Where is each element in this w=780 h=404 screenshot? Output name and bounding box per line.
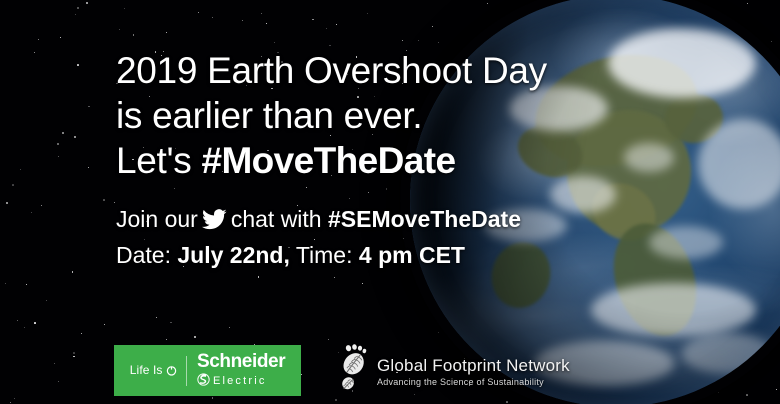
move-the-date-hashtag: #MoveTheDate: [201, 140, 455, 181]
star: [38, 39, 39, 40]
star: [261, 13, 262, 14]
star: [77, 64, 79, 66]
star: [60, 37, 61, 38]
star: [81, 333, 82, 334]
star: [103, 199, 105, 201]
star: [119, 29, 120, 30]
star: [54, 363, 55, 364]
star: [771, 41, 772, 42]
star: [88, 167, 89, 168]
star: [114, 202, 115, 203]
cloud: [682, 333, 773, 374]
date-time-line: Date: July 22nd, Time: 4 pm CET: [116, 239, 521, 272]
event-details: Join ourchat with #SEMoveTheDate Date: J…: [116, 203, 521, 272]
time-label: Time:: [296, 242, 353, 268]
date-value: July 22nd,: [177, 242, 289, 268]
leaf-footprint-icon: [336, 344, 370, 399]
star: [72, 271, 74, 273]
se-move-the-date-hashtag: #SEMoveTheDate: [328, 206, 521, 232]
star: [229, 327, 230, 328]
schneider-electric-logo: Life Is Schneider Electric: [114, 345, 301, 396]
star: [57, 143, 59, 145]
chat-invite-line: Join ourchat with #SEMoveTheDate: [116, 203, 521, 239]
promo-banner: 2019 Earth Overshoot Day is earlier than…: [0, 0, 780, 404]
life-is-on-tagline: Life Is: [130, 363, 186, 379]
headline-line-3-prefix: Let's: [116, 140, 201, 181]
star: [74, 136, 76, 138]
star: [418, 40, 420, 42]
star: [747, 3, 748, 4]
gfn-text-block: Global Footprint Network Advancing the S…: [377, 357, 570, 387]
star: [242, 20, 243, 21]
star: [86, 2, 88, 4]
star: [432, 26, 434, 28]
star: [34, 322, 36, 324]
star: [14, 398, 15, 399]
join-prefix-text: Join our: [116, 206, 198, 232]
power-on-icon: [166, 365, 177, 379]
life-is-on-text: Life Is: [130, 363, 166, 377]
star: [88, 106, 90, 108]
star: [34, 52, 35, 53]
star: [487, 3, 488, 4]
star: [301, 374, 302, 375]
star: [506, 401, 508, 403]
landmass: [663, 91, 725, 145]
gfn-tagline: Advancing the Science of Sustainability: [377, 378, 570, 387]
global-footprint-network-logo: Global Footprint Network Advancing the S…: [336, 344, 570, 399]
star: [349, 198, 350, 199]
cloud: [624, 143, 673, 172]
star: [75, 14, 76, 15]
star: [334, 277, 335, 278]
star: [174, 188, 175, 189]
star: [367, 13, 368, 14]
star: [306, 187, 307, 188]
cloud: [591, 283, 756, 337]
landmass: [582, 172, 666, 251]
star: [386, 188, 388, 190]
star: [26, 284, 27, 285]
cloud: [608, 28, 756, 98]
star: [336, 24, 337, 25]
gfn-name: Global Footprint Network: [377, 357, 570, 374]
chat-with-text: chat with: [231, 206, 322, 232]
star: [17, 320, 18, 321]
star: [335, 399, 337, 401]
cloud: [649, 226, 723, 259]
landmass: [523, 38, 709, 182]
star: [312, 19, 314, 21]
star: [156, 317, 157, 318]
star: [329, 45, 331, 47]
landmass: [557, 101, 700, 244]
star: [166, 32, 167, 33]
star: [58, 156, 59, 157]
star: [5, 283, 6, 284]
headline-line-1: 2019 Earth Overshoot Day: [116, 48, 547, 93]
star: [274, 42, 275, 43]
star: [24, 327, 25, 328]
star: [73, 356, 75, 358]
headline-line-2: is earlier than ever.: [116, 93, 547, 138]
star: [10, 402, 11, 403]
star: [266, 23, 267, 24]
star: [402, 40, 403, 41]
star: [746, 394, 748, 396]
star: [326, 28, 327, 29]
schneider-sub-row: Electric: [197, 373, 267, 390]
star: [438, 42, 439, 43]
star: [212, 397, 214, 399]
star: [104, 324, 105, 325]
star: [198, 12, 199, 13]
star: [438, 332, 439, 333]
star: [62, 132, 64, 134]
star: [212, 17, 213, 18]
star: [77, 7, 79, 9]
star: [170, 322, 172, 324]
star: [776, 389, 777, 390]
schneider-wordmark: Schneider Electric: [187, 352, 285, 390]
star: [20, 169, 21, 170]
twitter-bird-icon: [202, 206, 227, 239]
cloud: [550, 176, 616, 213]
star: [46, 300, 47, 301]
star: [133, 34, 135, 36]
headline-line-3: Let's #MoveTheDate: [116, 138, 547, 183]
headline: 2019 Earth Overshoot Day is earlier than…: [116, 48, 547, 183]
star: [718, 392, 719, 393]
star: [258, 276, 260, 278]
star: [58, 381, 59, 382]
schneider-electric-text: Electric: [213, 376, 267, 387]
star: [12, 184, 14, 186]
schneider-s-mark-icon: [197, 373, 210, 390]
star: [194, 336, 196, 338]
star: [6, 202, 8, 204]
star: [124, 8, 125, 9]
star: [166, 339, 167, 340]
schneider-name: Schneider: [197, 352, 285, 371]
cloud: [698, 119, 780, 210]
star: [362, 283, 363, 284]
date-label: Date:: [116, 242, 171, 268]
time-value: 4 pm CET: [359, 242, 465, 268]
star: [73, 352, 75, 354]
star: [328, 339, 329, 340]
star: [368, 192, 369, 193]
landmass: [600, 212, 710, 346]
star: [31, 212, 32, 213]
star: [41, 205, 42, 206]
